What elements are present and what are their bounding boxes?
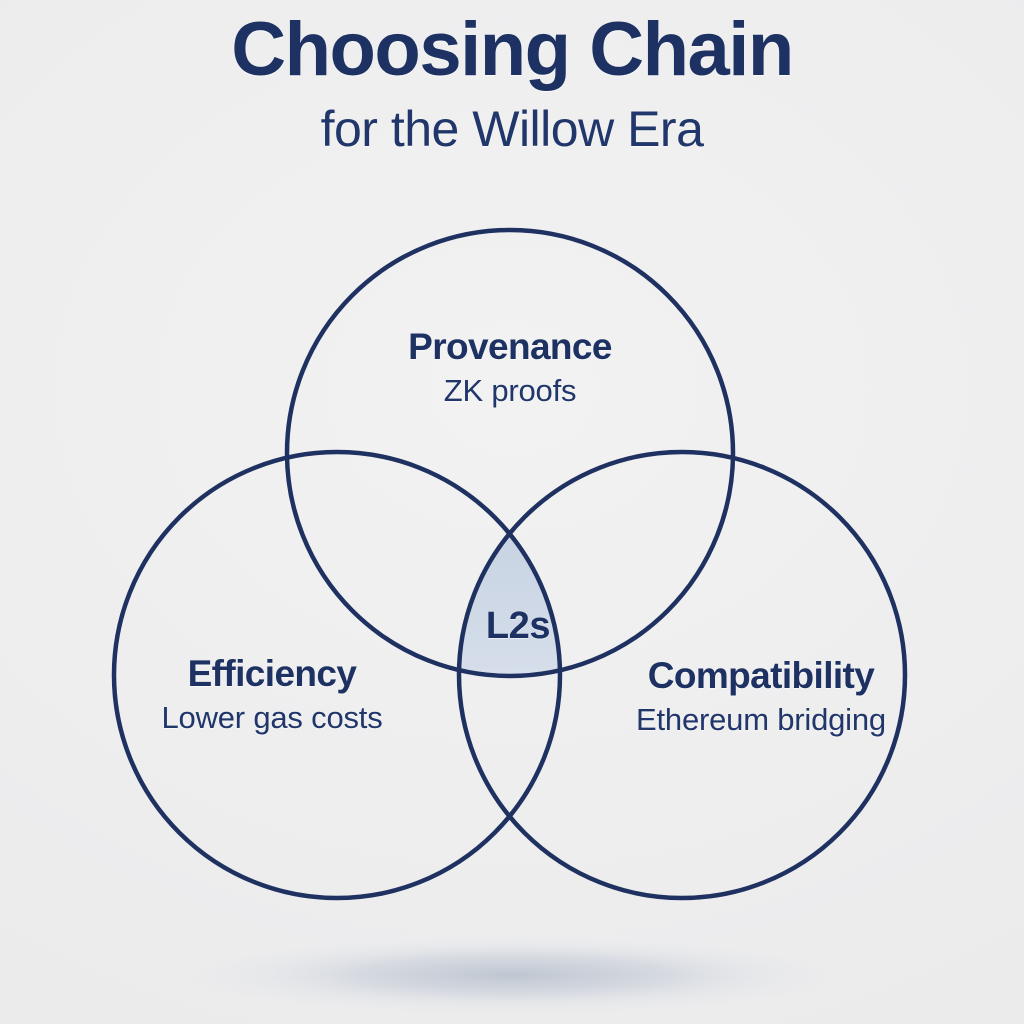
venn-diagram: [0, 0, 1024, 1024]
infographic-canvas: Choosing Chain for the Willow Era: [0, 0, 1024, 1024]
diagram-shadow: [182, 935, 842, 1015]
intersection-region: [0, 0, 1024, 1024]
